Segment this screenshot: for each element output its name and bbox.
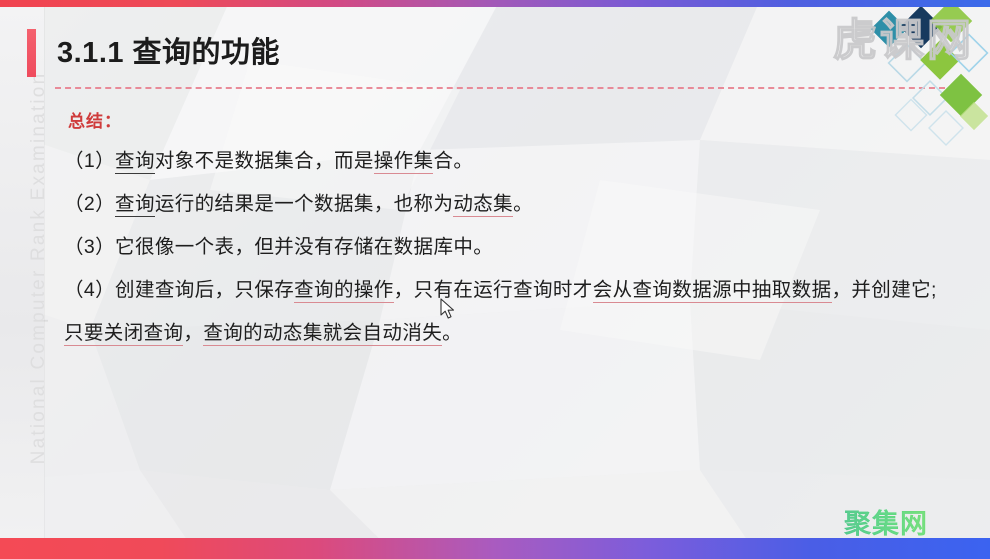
summary-line: （2）查询运行的结果是一个数据集，也称为动态集。 (64, 183, 954, 226)
slide-canvas: National Computer Rank Examination 虎课网 3… (0, 0, 990, 559)
summary-line: （1）查询对象不是数据集合，而是操作集合。 (64, 140, 954, 183)
top-gradient-rail (0, 0, 990, 7)
summary-line: （4）创建查询后，只保存查询的操作，只有在运行查询时才会从查询数据源中抽取数据，… (64, 269, 954, 355)
page-title: 3.1.1 查询的功能 (57, 33, 280, 73)
summary-label: 总结： (68, 107, 122, 132)
summary-line-number: （2） (64, 193, 115, 215)
summary-underlined-segment: 查询的动态集就会自动消失 (203, 322, 442, 346)
summary-text-segment: ， (183, 322, 203, 344)
summary-text-segment: ，只有在运行查询时才 (394, 279, 593, 301)
title-dashed-rule (55, 87, 945, 89)
left-sidebar-band: National Computer Rank Examination (0, 7, 44, 538)
summary-line-number: （4） (64, 279, 115, 301)
sidebar-vertical-text: National Computer Rank Examination (28, 33, 50, 503)
sidebar-divider (44, 7, 45, 538)
summary-text-segment: 对象不是数据集合，而是 (155, 150, 374, 172)
summary-text-segment: 运行的结果是一个数据集，也称为 (155, 193, 454, 215)
summary-line-number: （1） (64, 150, 115, 172)
summary-line-number: （3） (64, 236, 115, 258)
watermark-jujiwang: 聚集网 (844, 502, 928, 541)
summary-text-segment: ，并创建它; (832, 279, 937, 301)
summary-line: （3）它很像一个表，但并没有存储在数据库中。 (64, 226, 954, 269)
summary-text-segment: 创建查询后，只保存 (115, 279, 294, 301)
summary-underlined-segment: 查询的操作 (294, 279, 394, 303)
summary-underlined-segment: 查询 (115, 193, 155, 217)
summary-text-segment: 合。 (433, 150, 473, 172)
summary-underlined-segment: 会从查询数据源中抽取数据 (593, 279, 832, 303)
summary-text-segment: 。 (442, 322, 462, 344)
summary-list: （1）查询对象不是数据集合，而是操作集合。（2）查询运行的结果是一个数据集，也称… (64, 140, 954, 355)
summary-underlined-segment: 操作集 (374, 150, 434, 174)
title-accent-bar (27, 29, 36, 77)
summary-text-segment: 。 (513, 193, 533, 215)
summary-underlined-segment: 动态集 (453, 193, 513, 217)
summary-text-segment: 它很像一个表，但并没有存储在数据库中。 (115, 236, 493, 258)
bottom-gradient-rail (0, 538, 990, 559)
summary-underlined-segment: 查询 (115, 150, 155, 174)
summary-underlined-segment: 只要关闭查询 (64, 322, 183, 346)
